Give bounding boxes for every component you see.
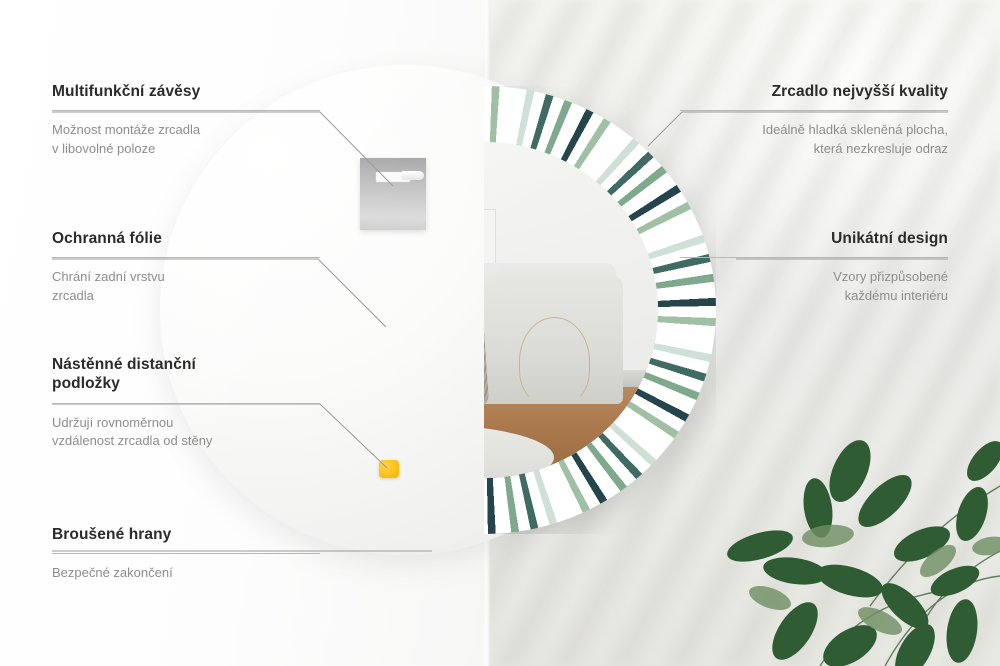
callout-title-line: podložky	[52, 374, 320, 393]
callout-description-line: Chrání zadní vrstvu	[52, 268, 320, 286]
callout-title: Broušené hrany	[52, 525, 320, 544]
callout-rule	[680, 110, 948, 111]
callout-brousene-hrany: Broušené hrany Bezpečné zakončení	[52, 525, 320, 583]
mirror-glass	[484, 142, 658, 478]
callout-description: Vzory přizpůsobené každému interiéru	[680, 268, 948, 305]
callout-rule	[52, 257, 320, 258]
callout-multifunkcni-zavesy: Multifunkční závěsy Možnost montáže zrca…	[52, 82, 320, 158]
callout-title: Nástěnné distanční podložky	[52, 355, 320, 394]
callout-description-line: která nezkresluje odraz	[680, 140, 948, 158]
wall-spacer-pad	[379, 460, 399, 478]
hanger-keyhole-slot	[376, 172, 410, 181]
callout-description: Ideálně hladká skleněná plocha, která ne…	[680, 121, 948, 158]
callout-description: Možnost montáže zrcadla v libovolné polo…	[52, 121, 320, 158]
mirror-hanger-plate	[360, 158, 426, 230]
callout-rule	[52, 553, 320, 554]
callout-title: Multifunkční závěsy	[52, 82, 320, 101]
callout-description: Udržují rovnoměrnou vzdálenost zrcadla o…	[52, 414, 320, 451]
callout-ochranna-folie: Ochranná fólie Chrání zadní vrstvu zrcad…	[52, 229, 320, 305]
callout-description: Bezpečné zakončení	[52, 564, 320, 582]
callout-nastenne-distancni-podlozky: Nástěnné distanční podložky Udržují rovn…	[52, 355, 320, 451]
callout-description-line: v libovolné poloze	[52, 140, 320, 158]
callout-zrcadlo-nejvyssi-kvality: Zrcadlo nejvyšší kvality Ideálně hladká …	[680, 82, 948, 158]
callout-title: Unikátní design	[680, 229, 948, 248]
callout-description-line: Vzory přizpůsobené	[680, 268, 948, 286]
callout-unikatni-design: Unikátní design Vzory přizpůsobené každé…	[680, 229, 948, 305]
callout-title: Zrcadlo nejvyšší kvality	[680, 82, 948, 101]
callout-rule	[680, 257, 948, 258]
callout-description-line: Ideálně hladká skleněná plocha,	[680, 121, 948, 139]
callout-description: Chrání zadní vrstvu zrcadla	[52, 268, 320, 305]
callout-rule	[52, 403, 320, 404]
infographic-canvas: Multifunkční závěsy Možnost montáže zrca…	[0, 0, 1000, 666]
callout-description-line: zrcadla	[52, 287, 320, 305]
callout-rule	[52, 110, 320, 111]
callout-description-line: Bezpečné zakončení	[52, 564, 320, 582]
green-leaves-foliage	[700, 366, 1000, 666]
callout-description-line: Udržují rovnoměrnou	[52, 414, 320, 432]
callout-description-line: Možnost montáže zrcadla	[52, 121, 320, 139]
callout-title-line: Nástěnné distanční	[52, 355, 320, 374]
callout-description-line: vzdálenost zrcadla od stěny	[52, 432, 320, 450]
callout-description-line: každému interiéru	[680, 287, 948, 305]
callout-title: Ochranná fólie	[52, 229, 320, 248]
